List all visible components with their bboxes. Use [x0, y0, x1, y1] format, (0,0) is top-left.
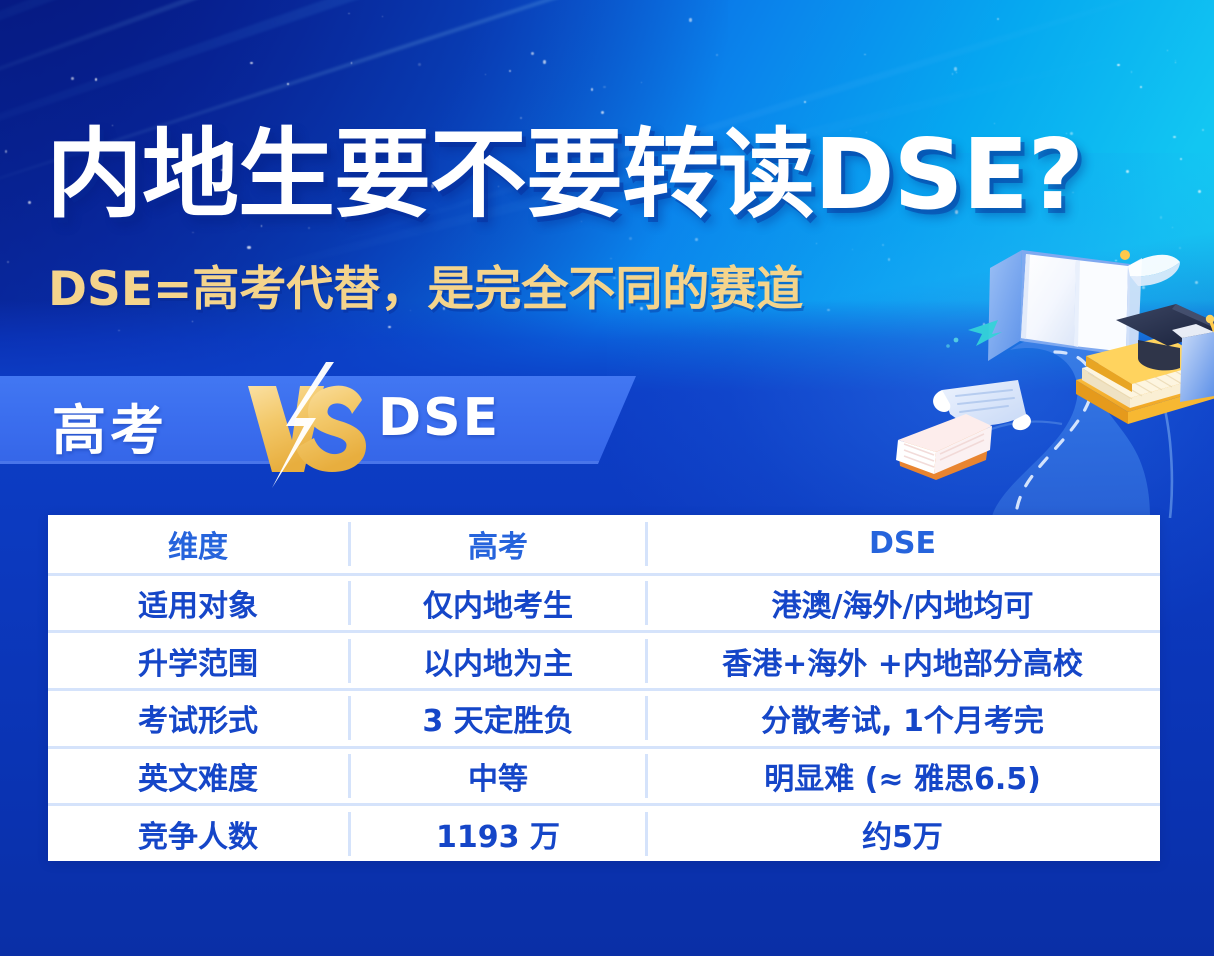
table-cell-dse: 分散考试, 1个月考完	[648, 696, 1157, 740]
table-row: 英文难度 中等 明显难 (≈ 雅思6.5)	[48, 746, 1160, 804]
poster-canvas: 内地生要不要转读DSE? DSE=高考代替，是完全不同的赛道 高考 DSE 维度	[0, 0, 1214, 956]
table-cell-dse: 港澳/海外/内地均可	[648, 581, 1157, 625]
table-cell-dse: 香港+海外 +内地部分高校	[648, 639, 1157, 683]
table-cell-dimension: 考试形式	[48, 696, 348, 740]
table-cell-dse: 约5万	[648, 812, 1157, 856]
table-cell-dimension: 适用对象	[48, 581, 348, 625]
poster-title: 内地生要不要转读DSE?	[46, 126, 1083, 223]
table-cell-dimension: 升学范围	[48, 639, 348, 683]
poster-subtitle: DSE=高考代替，是完全不同的赛道	[48, 266, 803, 313]
versus-left-label: 高考	[52, 386, 168, 465]
small-open-book-icon	[896, 414, 992, 480]
comparison-table: 维度 高考 DSE 适用对象 仅内地考生 港澳/海外/内地均可 升学范围 以内地…	[48, 515, 1160, 861]
table-header-dimension: 维度	[48, 522, 348, 566]
versus-mark-icon	[242, 362, 372, 488]
versus-right-label: DSE	[378, 388, 500, 448]
table-cell-dse: 明显难 (≈ 雅思6.5)	[648, 754, 1157, 798]
table-cell-gaokao: 仅内地考生	[348, 581, 648, 625]
table-cell-gaokao: 以内地为主	[348, 639, 648, 683]
table-cell-dimension: 英文难度	[48, 754, 348, 798]
table-cell-gaokao: 3 天定胜负	[348, 696, 648, 740]
table-header-dse: DSE	[648, 526, 1157, 561]
table-cell-dimension: 竞争人数	[48, 812, 348, 856]
table-row: 升学范围 以内地为主 香港+海外 +内地部分高校	[48, 630, 1160, 688]
table-row: 考试形式 3 天定胜负 分散考试, 1个月考完	[48, 688, 1160, 746]
table-row: 竞争人数 1193 万 约5万	[48, 803, 1160, 861]
table-cell-gaokao: 1193 万	[348, 812, 648, 856]
table-header-row: 维度 高考 DSE	[48, 515, 1160, 573]
education-illustration	[880, 228, 1214, 518]
table-row: 适用对象 仅内地考生 港澳/海外/内地均可	[48, 573, 1160, 631]
table-header-gaokao: 高考	[348, 522, 648, 566]
table-cell-gaokao: 中等	[348, 754, 648, 798]
